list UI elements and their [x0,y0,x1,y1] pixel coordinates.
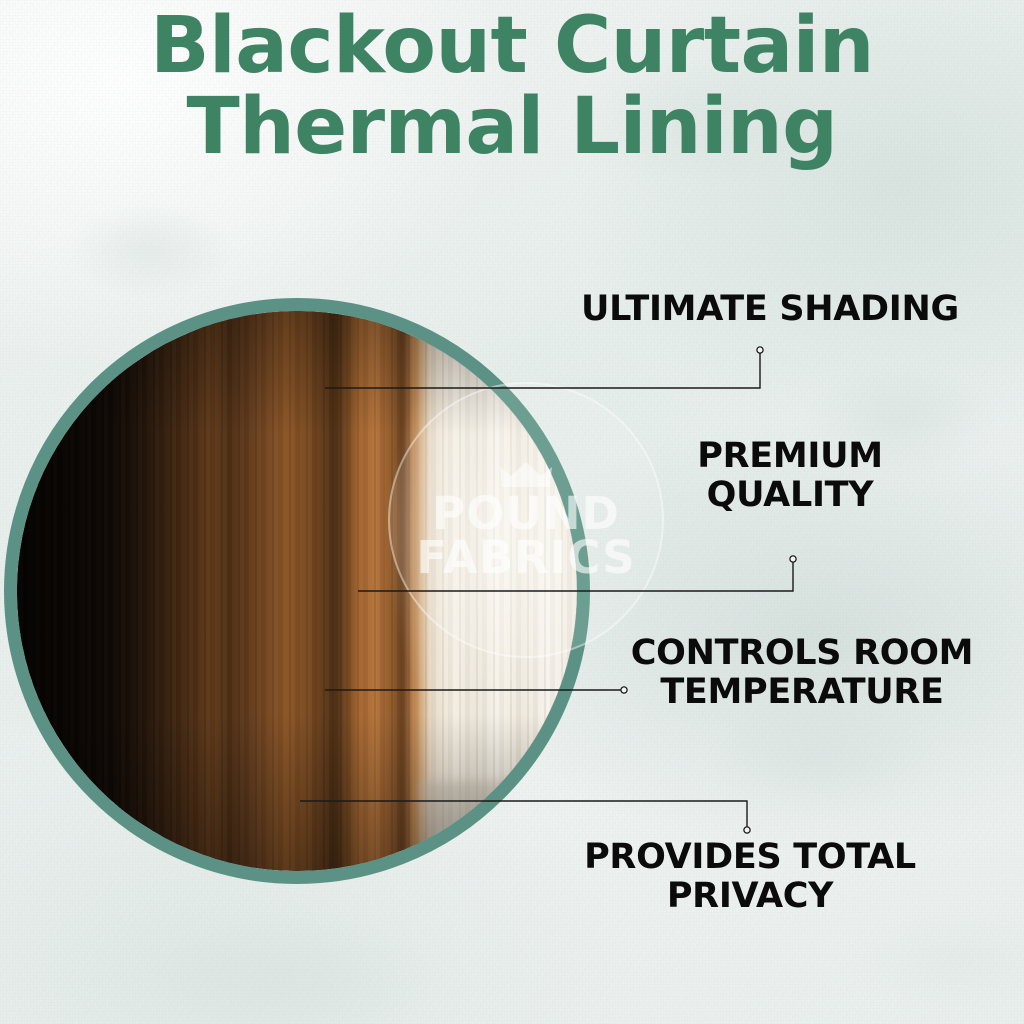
feature-label-provides-total-privacy: PROVIDES TOTALPRIVACY [520,838,980,916]
product-photo-circle [4,298,590,884]
page-title: Blackout Curtain Thermal Lining [0,6,1024,168]
feature-label-ultimate-shading: ULTIMATE SHADING [520,290,1020,329]
product-photo-image [17,311,577,871]
page-title-line-2: Thermal Lining [0,87,1024,168]
feature-label-controls-room-temperature: CONTROLS ROOMTEMPERATURE [580,634,1024,712]
feature-label-premium-quality: PREMIUMQUALITY [620,437,960,515]
page-title-line-1: Blackout Curtain [0,6,1024,87]
curtain-shadow-overlay [17,311,577,871]
infographic-canvas: Blackout Curtain Thermal Lining POUND FA… [0,0,1024,1024]
